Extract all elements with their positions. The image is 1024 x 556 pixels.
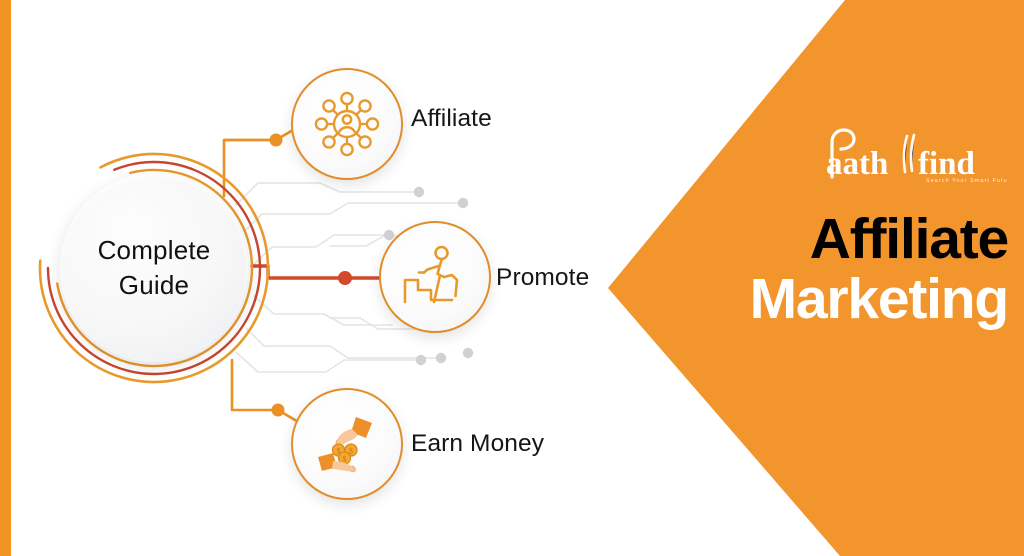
hub-label-line2: Guide (119, 268, 189, 303)
headline-line2: Marketing (620, 272, 1008, 328)
complete-guide-hub[interactable]: Complete Guide (38, 152, 270, 384)
hub-label: Complete Guide (60, 174, 248, 362)
node-label-earn-money: Earn Money (411, 430, 544, 458)
hands-coins-icon: $ $ $ (293, 390, 401, 498)
brand-logo-text2: find (918, 146, 975, 182)
brand-tagline: Search Your Smart Future (926, 178, 1008, 184)
headline: Affiliate Marketing (620, 212, 1008, 328)
poster-canvas: Complete Guide (0, 0, 1024, 556)
node-label-affiliate: Affiliate (411, 105, 492, 133)
brand-logo: aath find Search Your Smart Future (660, 126, 1008, 184)
affiliate-network-icon (293, 70, 401, 178)
node-affiliate[interactable] (291, 68, 403, 180)
node-promote[interactable] (379, 221, 491, 333)
svg-text:$: $ (343, 454, 347, 463)
node-label-promote: Promote (496, 264, 589, 292)
node-earn-money[interactable]: $ $ $ (291, 388, 403, 500)
brand-logo-text: aath (826, 146, 888, 182)
person-climbing-stairs-icon (381, 223, 489, 331)
hub-label-line1: Complete (98, 233, 211, 268)
headline-line1: Affiliate (620, 212, 1008, 268)
